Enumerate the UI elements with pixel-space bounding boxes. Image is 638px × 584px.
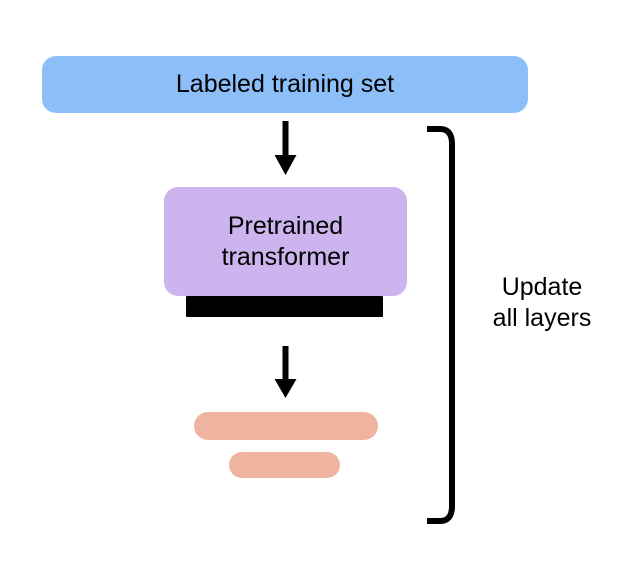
node-pretrained-transformer: Pretrained transformer — [164, 187, 407, 296]
arrow-down-icon-dataset-to-model — [271, 121, 301, 175]
node-labeled-training-set: Labeled training set — [42, 56, 528, 113]
node-pretrained-transformer-label: Pretrained transformer — [222, 211, 350, 272]
node-output-layer-narrow — [229, 452, 340, 478]
arrow-down-icon-model-to-output — [271, 346, 301, 398]
node-output-layer-wide — [194, 412, 378, 440]
bracket-caption-update-all-layers: Update all layers — [462, 272, 622, 335]
node-labeled-training-set-label: Labeled training set — [176, 69, 394, 100]
node-transformer-base-bar — [186, 296, 383, 317]
bracket-right-icon — [424, 126, 460, 524]
diagram-canvas: Labeled training set Pretrained transfor… — [0, 0, 638, 584]
